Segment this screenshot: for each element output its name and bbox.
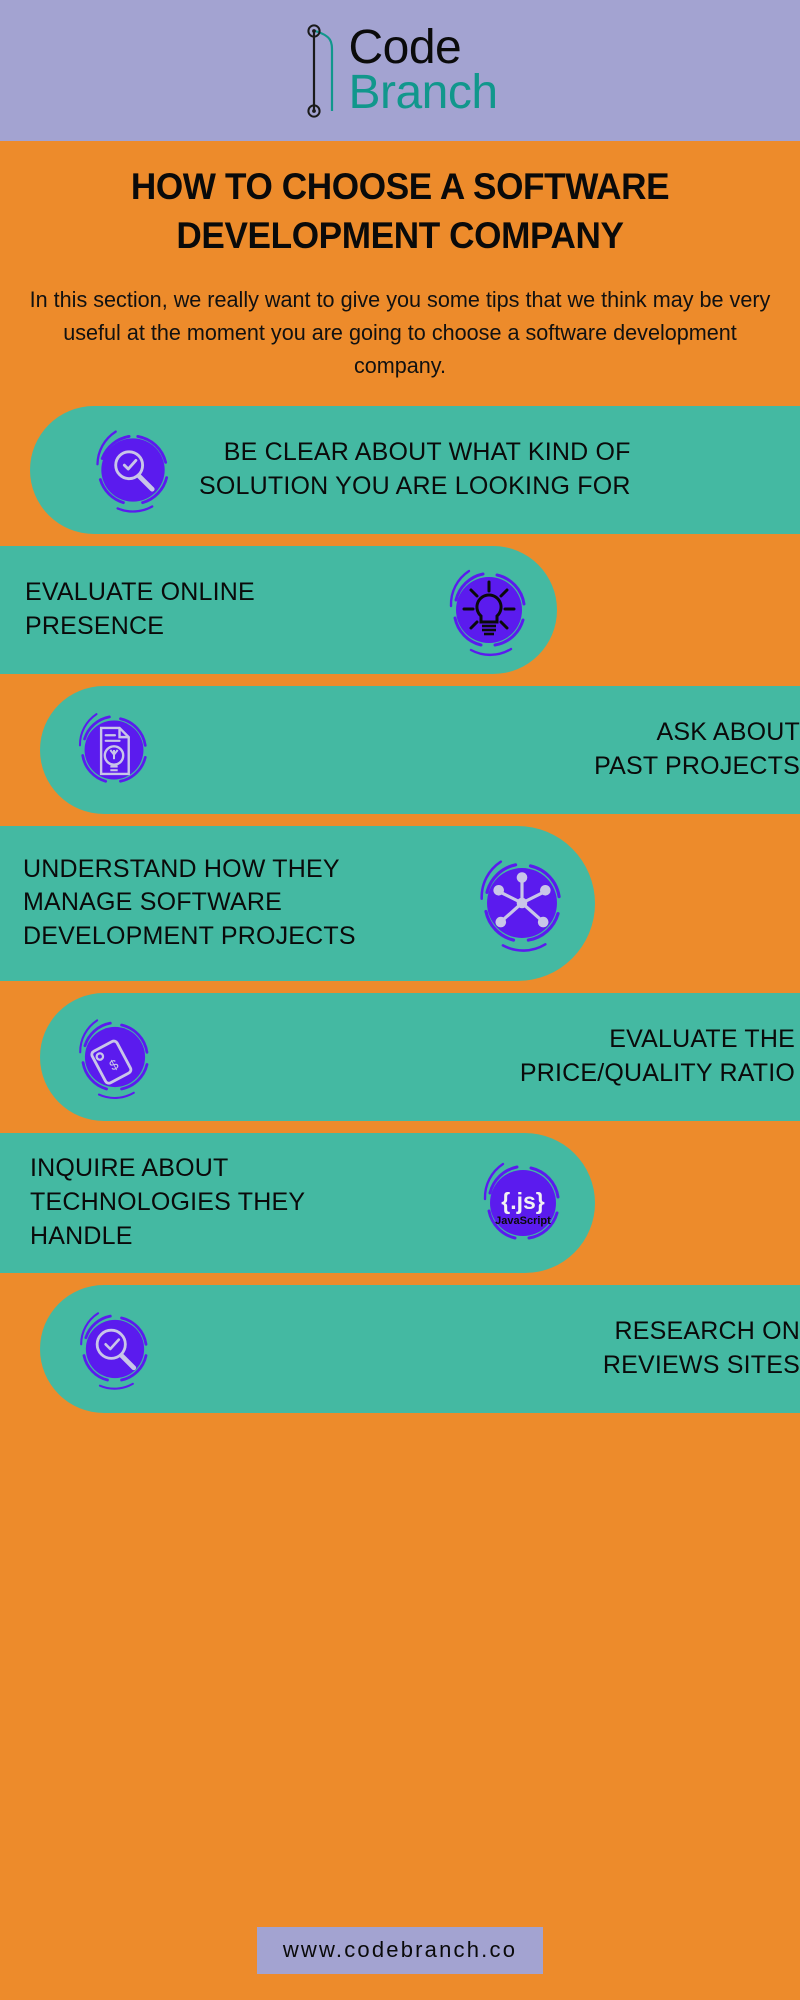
price-tag-icon: $ (40, 1010, 162, 1104)
list-item-label: UNDERSTAND HOW THEY MANAGE SOFTWARE DEVE… (0, 853, 469, 954)
logo-text-code: Code (348, 26, 497, 70)
document-lightbulb-icon (40, 704, 160, 796)
list-item-label: INQUIRE ABOUT TECHNOLOGIES THEY HANDLE (0, 1152, 473, 1253)
branch-node-icon (302, 22, 342, 120)
page-header: Code Branch (0, 0, 800, 141)
tips-list: BE CLEAR ABOUT WHAT KIND OF SOLUTION YOU… (0, 406, 800, 1413)
brand-logo: Code Branch (302, 22, 497, 120)
website-url[interactable]: www.codebranch.co (257, 1927, 543, 1974)
footer: www.codebranch.co (0, 1927, 800, 1974)
list-item: ASK ABOUT PAST PROJECTS (40, 686, 800, 814)
list-item: EVALUATE ONLINE PRESENCE (0, 546, 557, 674)
list-item-label: RESEARCH ON REVIEWS SITES (162, 1315, 800, 1383)
js-icon-sub-label: JavaScript (495, 1215, 551, 1227)
list-item-label: BE CLEAR ABOUT WHAT KIND OF SOLUTION YOU… (199, 436, 631, 504)
intro-paragraph: In this section, we really want to give … (16, 283, 784, 382)
logo-text-branch: Branch (348, 71, 497, 115)
list-item: $ EVALUATE THE PRICE/QUALITY RATIO (40, 993, 800, 1121)
list-item: BE CLEAR ABOUT WHAT KIND OF SOLUTION YOU… (30, 406, 800, 534)
page-title: HOW TO CHOOSE A SOFTWARE DEVELOPMENT COM… (20, 163, 780, 261)
list-item-label: EVALUATE THE PRICE/QUALITY RATIO (162, 1023, 800, 1091)
list-item-label: ASK ABOUT PAST PROJECTS (160, 716, 800, 784)
lightbulb-icon (439, 560, 557, 660)
list-item: RESEARCH ON REVIEWS SITES (40, 1285, 800, 1413)
magnifier-reviews-icon (40, 1302, 162, 1396)
js-icon-main-label: {.js} (501, 1188, 545, 1214)
list-item-label: EVALUATE ONLINE PRESENCE (0, 576, 439, 644)
network-nodes-icon (469, 850, 595, 956)
list-item: INQUIRE ABOUT TECHNOLOGIES THEY HANDLE {… (0, 1133, 595, 1273)
javascript-icon: {.js} JavaScript (473, 1153, 595, 1253)
list-item: UNDERSTAND HOW THEY MANAGE SOFTWARE DEVE… (0, 826, 595, 981)
magnifier-check-icon (30, 422, 181, 518)
